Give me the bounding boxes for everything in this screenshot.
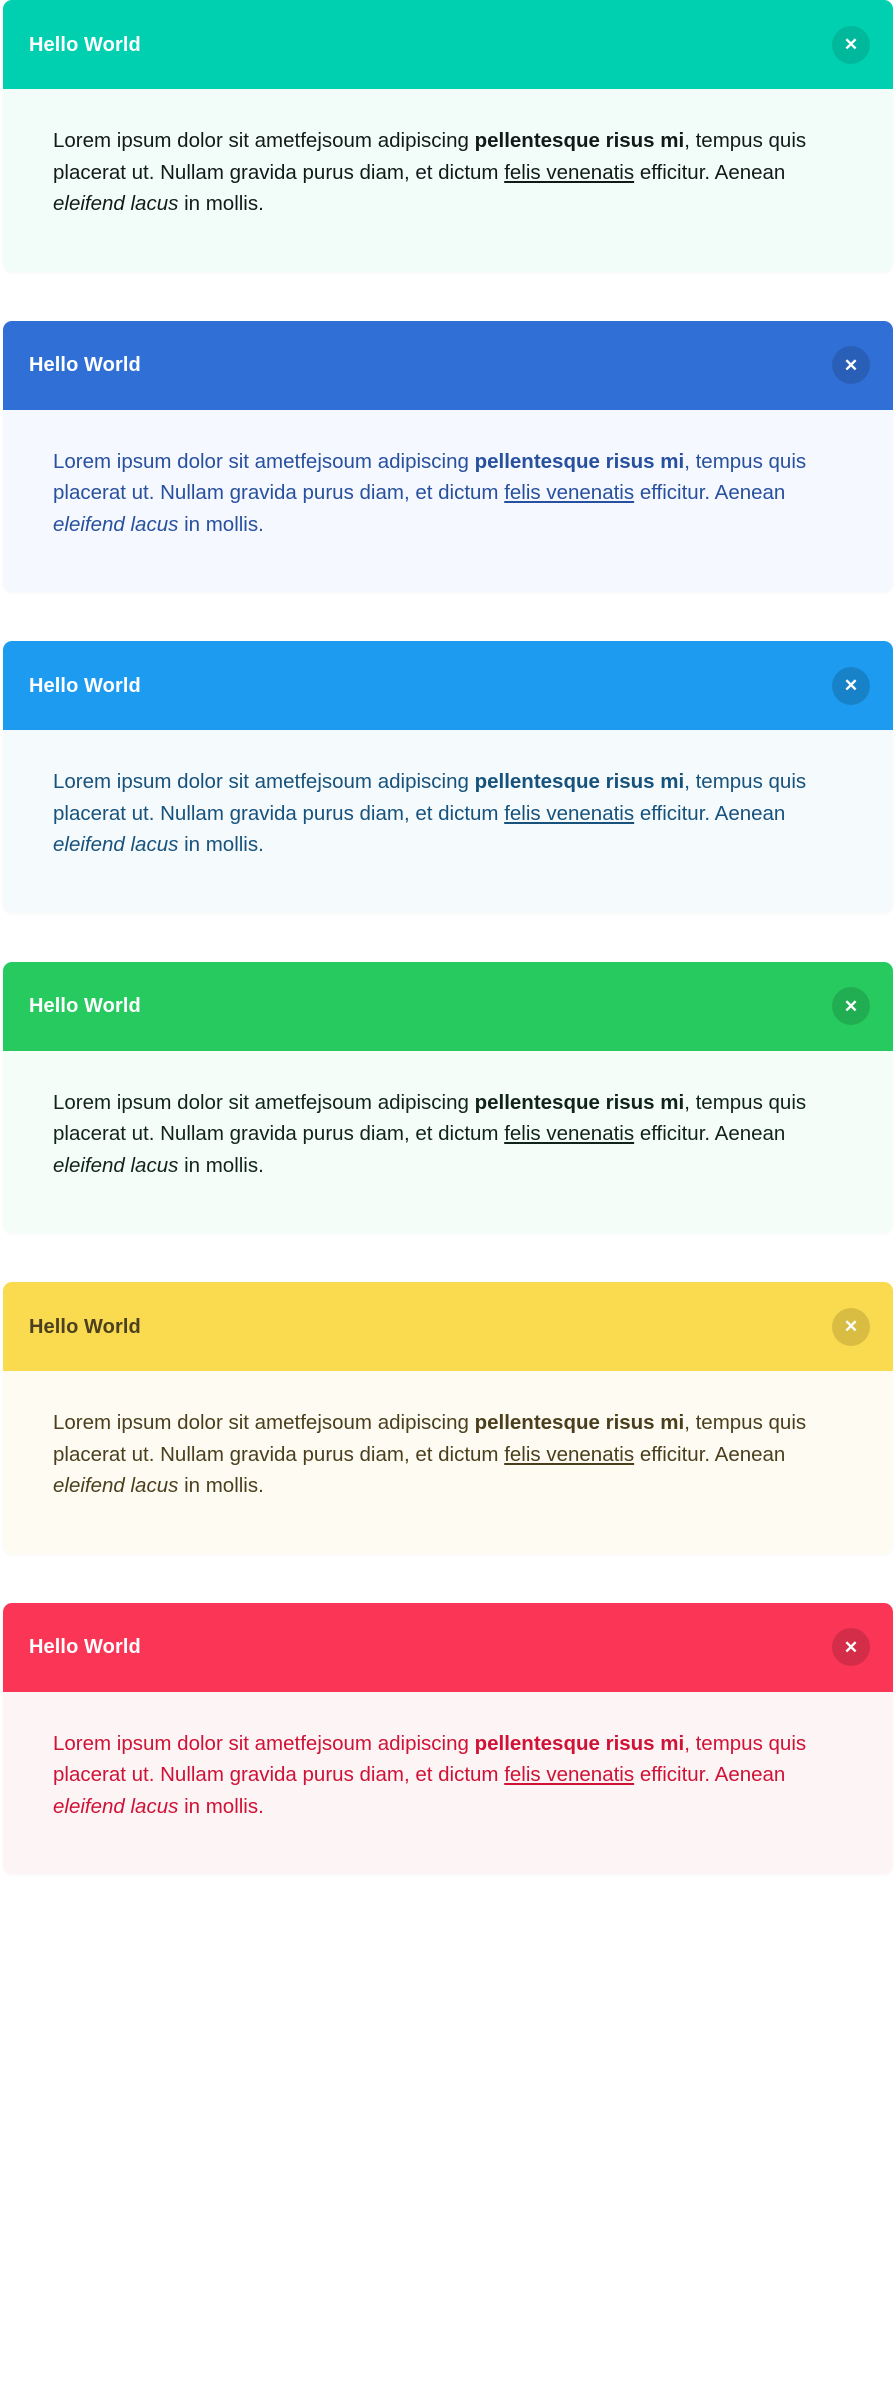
alert-text-segment-4: in mollis.	[178, 513, 263, 536]
alert-header-red: Hello World ✕	[3, 1603, 893, 1692]
alert-text-bold: pellentesque risus mi	[475, 129, 685, 152]
alert-text-segment-1: Lorem ipsum dolor sit ametfejsoum adipis…	[53, 770, 475, 793]
alert-text-link[interactable]: felis venenatis	[504, 481, 634, 504]
close-icon: ✕	[844, 677, 858, 694]
alert-body-paragraph: Lorem ipsum dolor sit ametfejsoum adipis…	[53, 1087, 843, 1182]
alert-text-link[interactable]: felis venenatis	[504, 161, 634, 184]
alert-card-red: Hello World ✕ Lorem ipsum dolor sit amet…	[3, 1603, 893, 1875]
alert-text-italic: eleifend lacus	[53, 833, 178, 856]
alert-stack: Hello World ✕ Lorem ipsum dolor sit amet…	[0, 0, 896, 1874]
alert-body-green: Lorem ipsum dolor sit ametfejsoum adipis…	[3, 1051, 893, 1234]
alert-title-blue: Hello World	[29, 355, 141, 375]
alert-text-segment-1: Lorem ipsum dolor sit ametfejsoum adipis…	[53, 450, 475, 473]
alert-card-blue: Hello World ✕ Lorem ipsum dolor sit amet…	[3, 321, 893, 593]
alert-text-segment-4: in mollis.	[178, 1474, 263, 1497]
alert-text-segment-3: efficitur. Aenean	[634, 481, 785, 504]
alert-body-paragraph: Lorem ipsum dolor sit ametfejsoum adipis…	[53, 446, 843, 541]
alert-text-segment-3: efficitur. Aenean	[634, 161, 785, 184]
alert-title-red: Hello World	[29, 1637, 141, 1657]
close-button-red[interactable]: ✕	[832, 1628, 870, 1666]
alert-text-bold: pellentesque risus mi	[475, 450, 685, 473]
alert-card-info: Hello World ✕ Lorem ipsum dolor sit amet…	[3, 641, 893, 913]
alert-body-paragraph: Lorem ipsum dolor sit ametfejsoum adipis…	[53, 766, 843, 861]
close-button-green[interactable]: ✕	[832, 987, 870, 1025]
alert-header-info: Hello World ✕	[3, 641, 893, 730]
alert-text-segment-1: Lorem ipsum dolor sit ametfejsoum adipis…	[53, 1732, 475, 1755]
close-button-yellow[interactable]: ✕	[832, 1308, 870, 1346]
close-icon: ✕	[844, 1318, 858, 1335]
alert-text-italic: eleifend lacus	[53, 1474, 178, 1497]
alert-text-bold: pellentesque risus mi	[475, 1732, 685, 1755]
alert-text-link[interactable]: felis venenatis	[504, 1122, 634, 1145]
close-button-teal[interactable]: ✕	[832, 26, 870, 64]
close-button-info[interactable]: ✕	[832, 667, 870, 705]
alert-text-segment-3: efficitur. Aenean	[634, 802, 785, 825]
alert-text-italic: eleifend lacus	[53, 1154, 178, 1177]
alert-text-bold: pellentesque risus mi	[475, 770, 685, 793]
alert-text-segment-3: efficitur. Aenean	[634, 1763, 785, 1786]
alert-text-segment-4: in mollis.	[178, 833, 263, 856]
alert-text-italic: eleifend lacus	[53, 1795, 178, 1818]
close-icon: ✕	[844, 998, 858, 1015]
alert-text-segment-3: efficitur. Aenean	[634, 1122, 785, 1145]
alert-title-green: Hello World	[29, 996, 141, 1016]
alert-body-paragraph: Lorem ipsum dolor sit ametfejsoum adipis…	[53, 125, 843, 220]
alert-title-teal: Hello World	[29, 35, 141, 55]
alert-text-link[interactable]: felis venenatis	[504, 1763, 634, 1786]
alert-card-green: Hello World ✕ Lorem ipsum dolor sit amet…	[3, 962, 893, 1234]
alert-body-red: Lorem ipsum dolor sit ametfejsoum adipis…	[3, 1692, 893, 1875]
alert-text-segment-4: in mollis.	[178, 1795, 263, 1818]
alert-text-italic: eleifend lacus	[53, 513, 178, 536]
alert-header-green: Hello World ✕	[3, 962, 893, 1051]
alert-body-blue: Lorem ipsum dolor sit ametfejsoum adipis…	[3, 410, 893, 593]
alert-card-yellow: Hello World ✕ Lorem ipsum dolor sit amet…	[3, 1282, 893, 1554]
close-icon: ✕	[844, 36, 858, 53]
alert-header-teal: Hello World ✕	[3, 0, 893, 89]
alert-card-teal: Hello World ✕ Lorem ipsum dolor sit amet…	[3, 0, 893, 272]
close-icon: ✕	[844, 357, 858, 374]
alert-title-yellow: Hello World	[29, 1317, 141, 1337]
alert-header-blue: Hello World ✕	[3, 321, 893, 410]
alert-body-teal: Lorem ipsum dolor sit ametfejsoum adipis…	[3, 89, 893, 272]
alert-body-paragraph: Lorem ipsum dolor sit ametfejsoum adipis…	[53, 1407, 843, 1502]
alert-text-segment-4: in mollis.	[178, 1154, 263, 1177]
alert-header-yellow: Hello World ✕	[3, 1282, 893, 1371]
alert-text-link[interactable]: felis venenatis	[504, 802, 634, 825]
alert-text-bold: pellentesque risus mi	[475, 1091, 685, 1114]
alert-text-segment-1: Lorem ipsum dolor sit ametfejsoum adipis…	[53, 129, 475, 152]
alert-text-segment-1: Lorem ipsum dolor sit ametfejsoum adipis…	[53, 1091, 475, 1114]
alert-text-segment-3: efficitur. Aenean	[634, 1443, 785, 1466]
alert-title-info: Hello World	[29, 676, 141, 696]
alert-body-paragraph: Lorem ipsum dolor sit ametfejsoum adipis…	[53, 1728, 843, 1823]
alert-text-link[interactable]: felis venenatis	[504, 1443, 634, 1466]
alert-text-segment-1: Lorem ipsum dolor sit ametfejsoum adipis…	[53, 1411, 475, 1434]
alert-text-italic: eleifend lacus	[53, 192, 178, 215]
alert-body-yellow: Lorem ipsum dolor sit ametfejsoum adipis…	[3, 1371, 893, 1554]
alert-text-segment-4: in mollis.	[178, 192, 263, 215]
close-icon: ✕	[844, 1639, 858, 1656]
alert-text-bold: pellentesque risus mi	[475, 1411, 685, 1434]
close-button-blue[interactable]: ✕	[832, 346, 870, 384]
alert-body-info: Lorem ipsum dolor sit ametfejsoum adipis…	[3, 730, 893, 913]
